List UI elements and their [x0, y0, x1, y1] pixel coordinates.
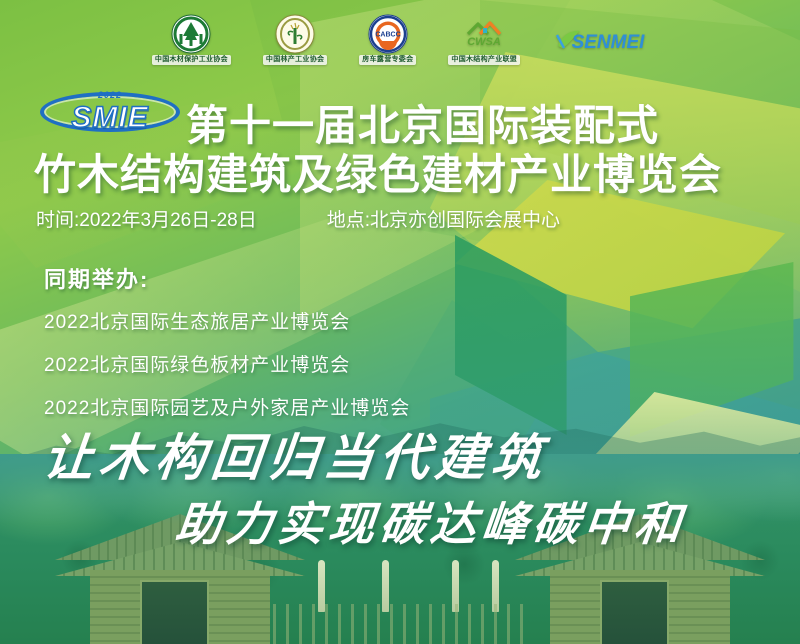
cabcc-seal-icon: CABCC — [368, 14, 408, 54]
pine-tree-shield-icon — [171, 14, 211, 54]
headline-line-2: 竹木结构建筑及绿色建材产业博览会 — [34, 141, 722, 202]
house-cwsa-icon: CWSA — [464, 14, 504, 54]
association-logo-senmei: SENMEI — [552, 22, 648, 56]
concurrent-events-heading: 同期举办: — [44, 262, 410, 294]
svg-text:CABCC: CABCC — [375, 31, 400, 38]
smie-logo: 2022 SMIE — [40, 88, 180, 138]
event-date: 时间:2022年3月26日-28日 — [36, 205, 257, 232]
association-logo-strip: 中国木材保护工业协会 中国林产工业协会 CABCC 房车露营专委会 — [0, 6, 800, 72]
association-name: 房车露营专委会 — [359, 55, 416, 65]
smie-logo-text: SMIE — [40, 101, 180, 135]
association-name: 中国木结构产业联盟 — [448, 55, 520, 65]
cabin-door-icon — [600, 580, 669, 644]
concurrent-event-item: 2022北京国际绿色板材产业博览会 — [44, 350, 410, 377]
bamboo-wreath-icon — [275, 14, 315, 54]
association-name: 中国林产工业协会 — [263, 55, 327, 65]
event-meta: 时间:2022年3月26日-28日 地点:北京亦创国际会展中心 — [36, 205, 560, 232]
association-logo-cwsa: CWSA 中国木结构产业联盟 — [448, 14, 520, 65]
association-logo-cabcc: CABCC 房车露营专委会 — [359, 14, 416, 65]
svg-text:CWSA: CWSA — [467, 36, 501, 48]
smie-logo-year: 2022 — [40, 90, 180, 100]
expo-poster: 中国木材保护工业协会 中国林产工业协会 CABCC 房车露营专委会 — [0, 0, 800, 644]
association-logo-timber-protection: 中国木材保护工业协会 — [152, 14, 231, 65]
association-name: 中国木材保护工业协会 — [152, 55, 231, 65]
association-logo-forest-products: 中国林产工业协会 — [263, 14, 327, 65]
svg-text:SENMEI: SENMEI — [572, 32, 646, 53]
cabin-door-icon — [140, 580, 209, 644]
slogan-line-2: 助力实现碳达峰碳中和 — [173, 488, 690, 554]
senmei-leaf-icon: SENMEI — [552, 22, 648, 56]
concurrent-event-item: 2022北京国际生态旅居产业博览会 — [44, 307, 410, 334]
slogan-line-1: 让木构回归当代建筑 — [40, 418, 552, 490]
concurrent-events: 同期举办: 2022北京国际生态旅居产业博览会 2022北京国际绿色板材产业博览… — [44, 262, 410, 436]
event-venue: 地点:北京亦创国际会展中心 — [327, 205, 560, 232]
concurrent-event-item: 2022北京国际园艺及户外家居产业博览会 — [44, 393, 410, 420]
